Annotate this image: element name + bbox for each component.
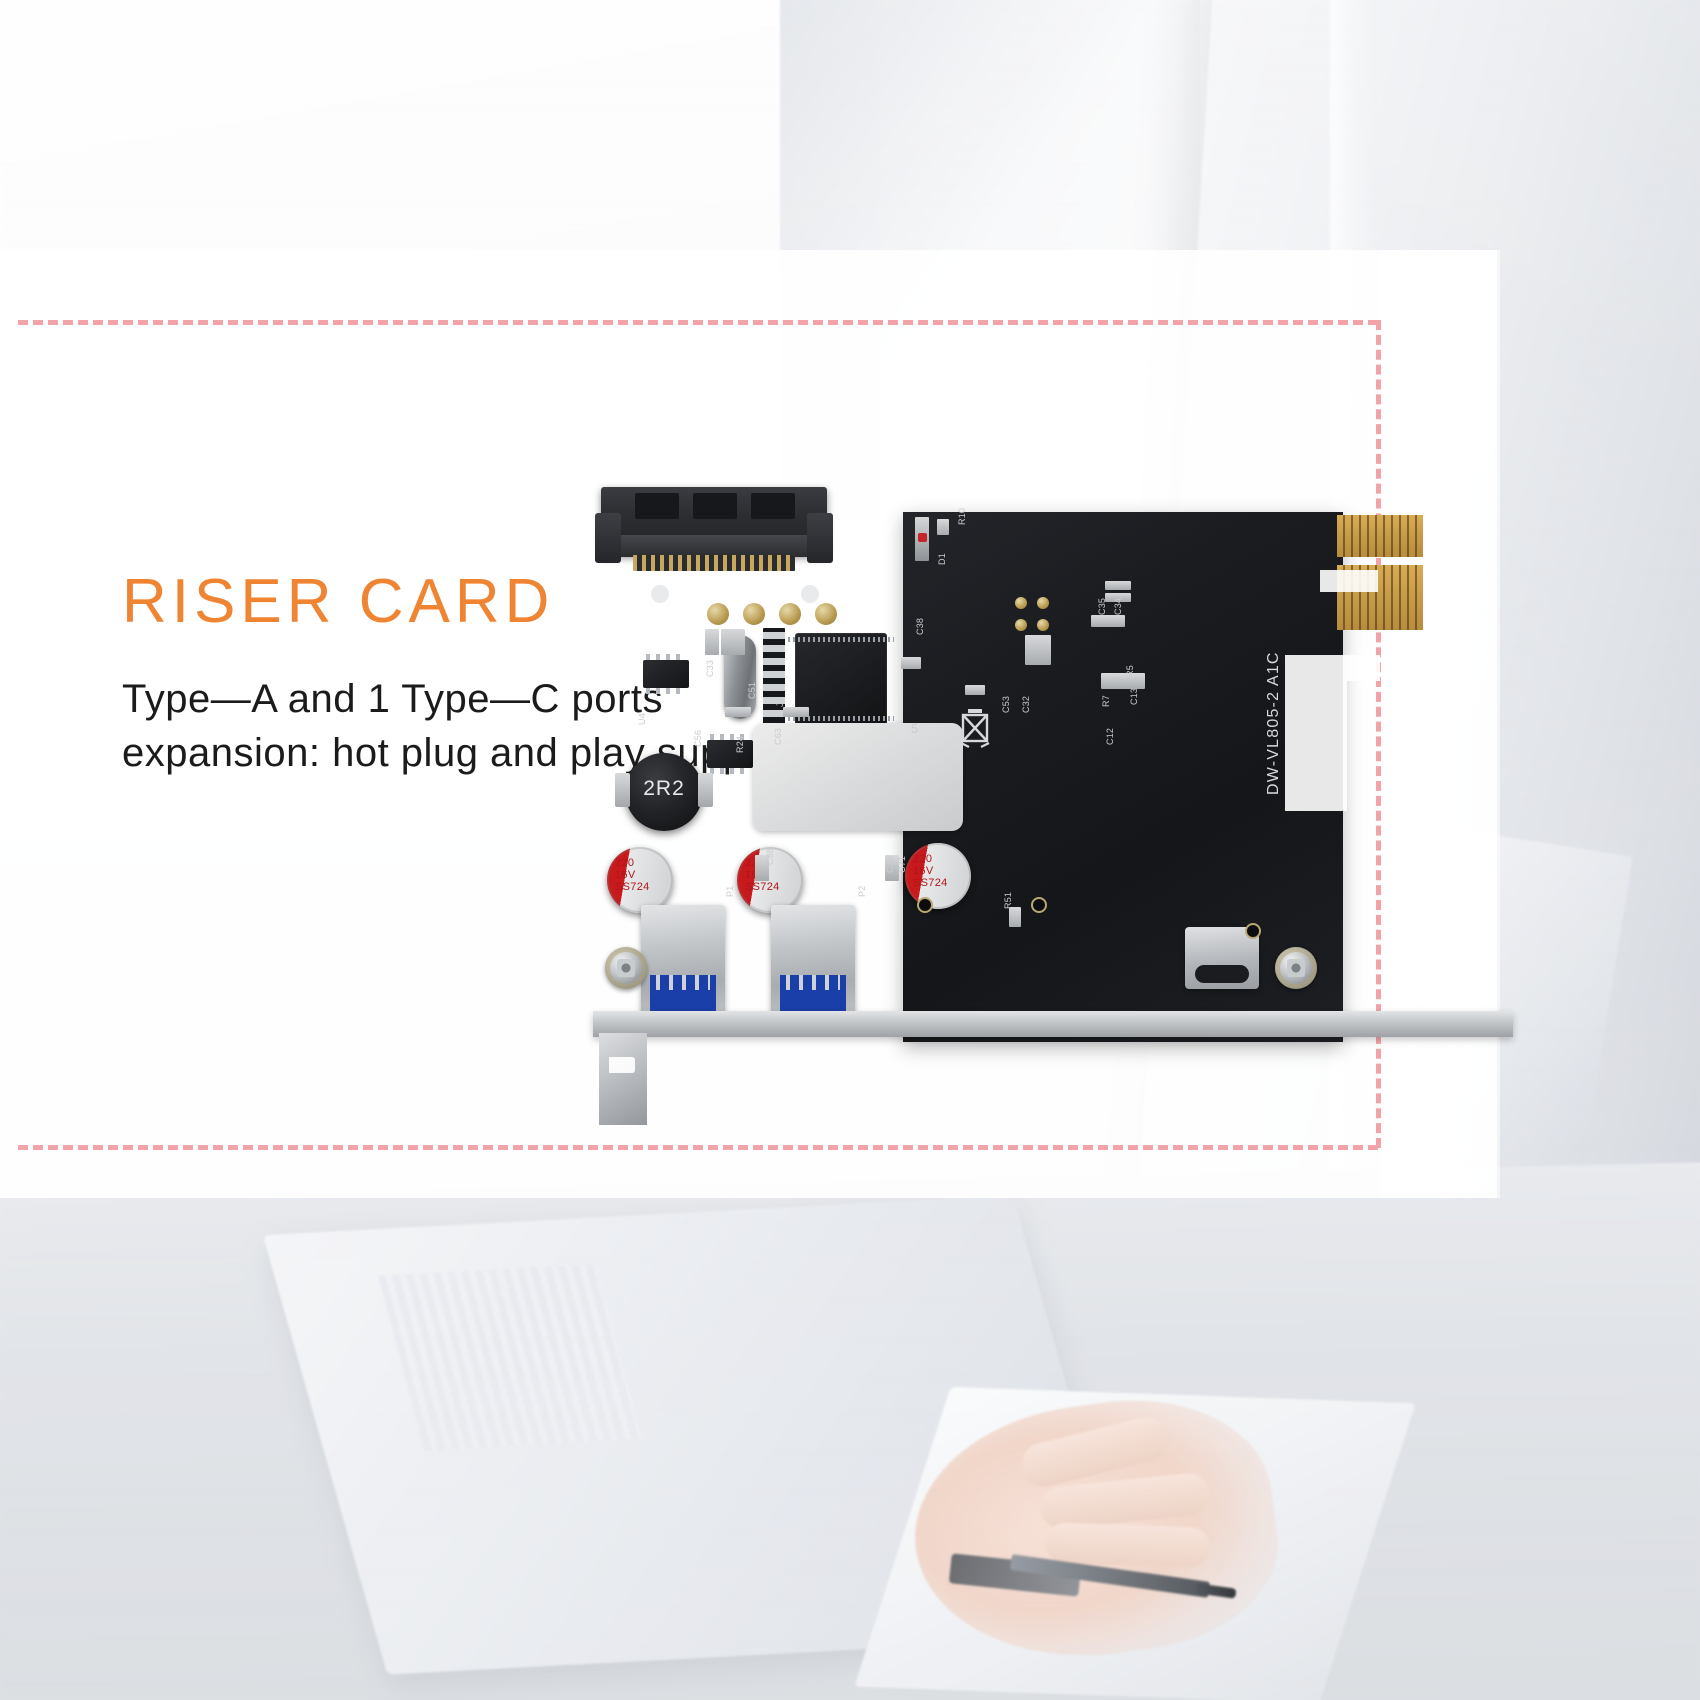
silkscreen-ref: C12 [1105,728,1115,745]
usb3-blue-insert [650,975,716,1011]
product-image-riser-card: 2R2 DW-VL805-2 A1C 22016VSS724 22016VSS7… [585,495,1515,1135]
background-finger [1044,1522,1210,1568]
silkscreen-ref: C70 [885,856,895,873]
pci-bracket [593,1011,1513,1037]
via [1247,925,1259,937]
page-title: RISER CARD [122,566,554,637]
capacitor-marking: 22016VSS724 [913,853,948,889]
pci-bracket-tab [599,1033,647,1125]
silkscreen-ref: C13 [1129,688,1139,705]
smd-capacitor [725,707,751,717]
mosfet-ic [707,740,753,768]
smd-resistor [937,519,949,535]
promo-banner: RISER CARD Type—A and 1 Type—C ports exp… [0,0,1700,1700]
silkscreen-ref: C32 [1021,696,1031,713]
sata-slot [751,493,795,519]
pcb-notch [1320,570,1378,592]
silkscreen-ref: R10 [957,508,967,525]
via [919,899,931,911]
weee-icon [955,705,995,749]
silkscreen-ref: D1 [937,553,947,565]
silkscreen-ref: C33 [705,660,715,677]
product-label [753,723,963,831]
background-laptop-screen [378,1264,642,1450]
frame-dashed-bottom [18,1145,1378,1150]
silkscreen-ref: R5 [1125,665,1135,677]
pcb-notch [1285,681,1347,811]
usb-a-port [641,905,725,1015]
through-hole-pad [1015,597,1027,609]
silkscreen-ref: C38 [915,618,925,635]
smd-capacitor [705,629,719,655]
regulator-ic [643,660,689,688]
silkscreen-ref: C56 [693,730,703,747]
pcie-edge-fingers-short [1337,515,1423,557]
silkscreen-ref: P2 [857,886,867,897]
sata-lip [601,535,827,557]
through-hole-pad [1037,619,1049,631]
smd-capacitor [721,629,745,655]
usb-a-port [771,905,855,1015]
sata-pin-row [633,555,795,571]
led-die [918,533,927,542]
test-pad [651,585,669,603]
silkscreen-ref: C51 [747,682,757,699]
silkscreen-ref: R51 [1003,892,1013,909]
smd-resistor [1101,673,1145,689]
sata-slot [635,493,679,519]
bracket-screw [605,947,647,989]
frame-dashed-top [18,320,1378,325]
through-hole-pad [707,603,729,625]
silkscreen-ref: C53 [1001,696,1011,713]
bracket-screw [1275,947,1317,989]
silkscreen-ref: C35 [1097,598,1107,615]
smd-resistor [1091,615,1125,627]
sata-latch-ear [595,513,621,563]
sata-power-connector [601,487,827,555]
smd-resistor [965,685,985,695]
silkscreen-ref: C34 [1113,598,1123,615]
board-model-silkscreen: DW-VL805-2 A1C [1265,651,1283,795]
sata-slot [693,493,737,519]
through-hole-pad [779,603,801,625]
silkscreen-ref: C63 [773,728,783,745]
through-hole-pad [1015,619,1027,631]
resistor-array [763,628,785,730]
silkscreen-ref: P1 [725,886,735,897]
silkscreen-ref: C71 [897,856,907,873]
pci-bracket-hook [609,1057,635,1073]
pcb-notch [1285,655,1380,681]
silkscreen-ref: C88 [765,848,775,865]
smd-resistor [1009,907,1021,927]
silkscreen-ref: R24 [735,736,745,753]
capacitor-marking: 22016VSS724 [615,857,650,893]
silkscreen-ref: J1 [775,697,785,707]
smd-capacitor [783,707,809,717]
test-pad [801,585,819,603]
smd-capacitor [1025,635,1051,665]
via [1033,899,1045,911]
inductor-marking: 2R2 [625,777,703,801]
through-hole-pad [743,603,765,625]
usb-c-opening [1195,965,1249,983]
through-hole-pad [1037,597,1049,609]
usb3-blue-insert [780,975,846,1011]
through-hole-pad [815,603,837,625]
silkscreen-ref: 5 [911,721,918,736]
smd-resistor [1105,581,1131,590]
smd-resistor [901,657,921,669]
silkscreen-ref: R7 [1101,695,1111,707]
sata-latch-ear [807,513,833,563]
silkscreen-ref: U4 [637,713,647,725]
